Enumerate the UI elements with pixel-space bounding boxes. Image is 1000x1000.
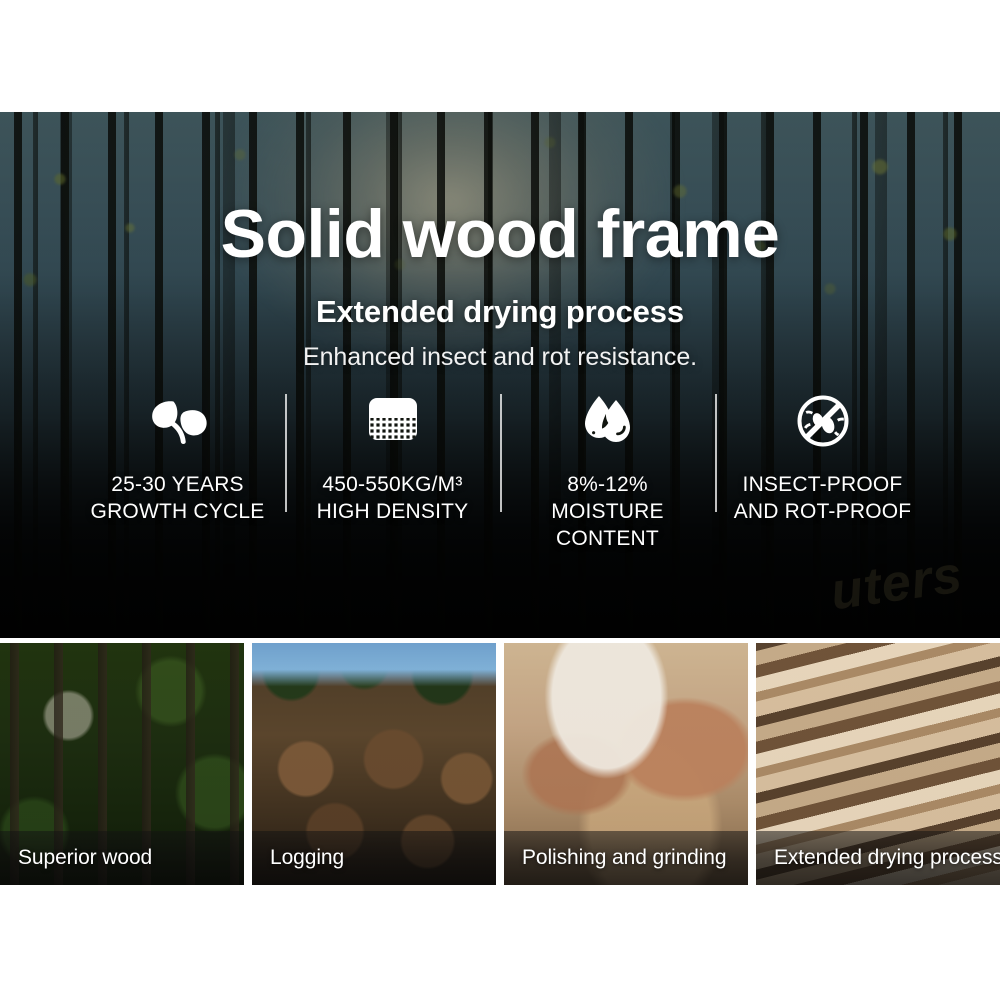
feature-label: 450-550KG/M³ HIGH DENSITY [317, 472, 469, 526]
process-tile-polishing-grinding[interactable]: Polishing and grinding [504, 643, 748, 885]
hero-banner: uters Solid wood frame Extended drying p… [0, 112, 1000, 638]
tile-caption: Logging [252, 846, 354, 870]
feature-high-density: 450-550KG/M³ HIGH DENSITY [285, 390, 500, 526]
density-block-icon [363, 390, 423, 452]
feature-growth-cycle: 25-30 YEARS GROWTH CYCLE [70, 390, 285, 526]
feature-label: INSECT-PROOF AND ROT-PROOF [734, 472, 912, 526]
tile-caption-bar: Superior wood [0, 831, 244, 885]
tile-caption: Extended drying process [756, 846, 1000, 870]
hero-tagline: Enhanced insect and rot resistance. [303, 343, 697, 372]
tile-caption: Superior wood [0, 846, 162, 870]
feature-label: 8%-12% MOISTURE CONTENT [500, 472, 715, 553]
feature-moisture-content: 8%-12% MOISTURE CONTENT [500, 390, 715, 553]
tile-caption-bar: Extended drying process [756, 831, 1000, 885]
feature-label: 25-30 YEARS GROWTH CYCLE [91, 472, 265, 526]
process-tile-logging[interactable]: Logging [252, 643, 496, 885]
process-tile-extended-drying[interactable]: Extended drying process [756, 643, 1000, 885]
hero-content: Solid wood frame Extended drying process… [0, 112, 1000, 638]
tile-caption-bar: Polishing and grinding [504, 831, 748, 885]
process-image-strip: Superior wood Logging Polishing and grin… [0, 643, 1000, 885]
feature-list: 25-30 YEARS GROWTH CYCLE [0, 390, 1000, 553]
sprout-leaf-icon [149, 390, 207, 452]
water-droplets-icon [579, 390, 637, 452]
tile-caption: Polishing and grinding [504, 846, 736, 870]
feature-insect-rot-proof: INSECT-PROOF AND ROT-PROOF [715, 390, 930, 526]
no-insect-icon [797, 390, 849, 452]
process-tile-superior-wood[interactable]: Superior wood [0, 643, 244, 885]
tile-caption-bar: Logging [252, 831, 496, 885]
product-feature-banner: uters Solid wood frame Extended drying p… [0, 0, 1000, 1000]
hero-title: Solid wood frame [221, 200, 780, 268]
hero-subtitle: Extended drying process [316, 294, 684, 330]
